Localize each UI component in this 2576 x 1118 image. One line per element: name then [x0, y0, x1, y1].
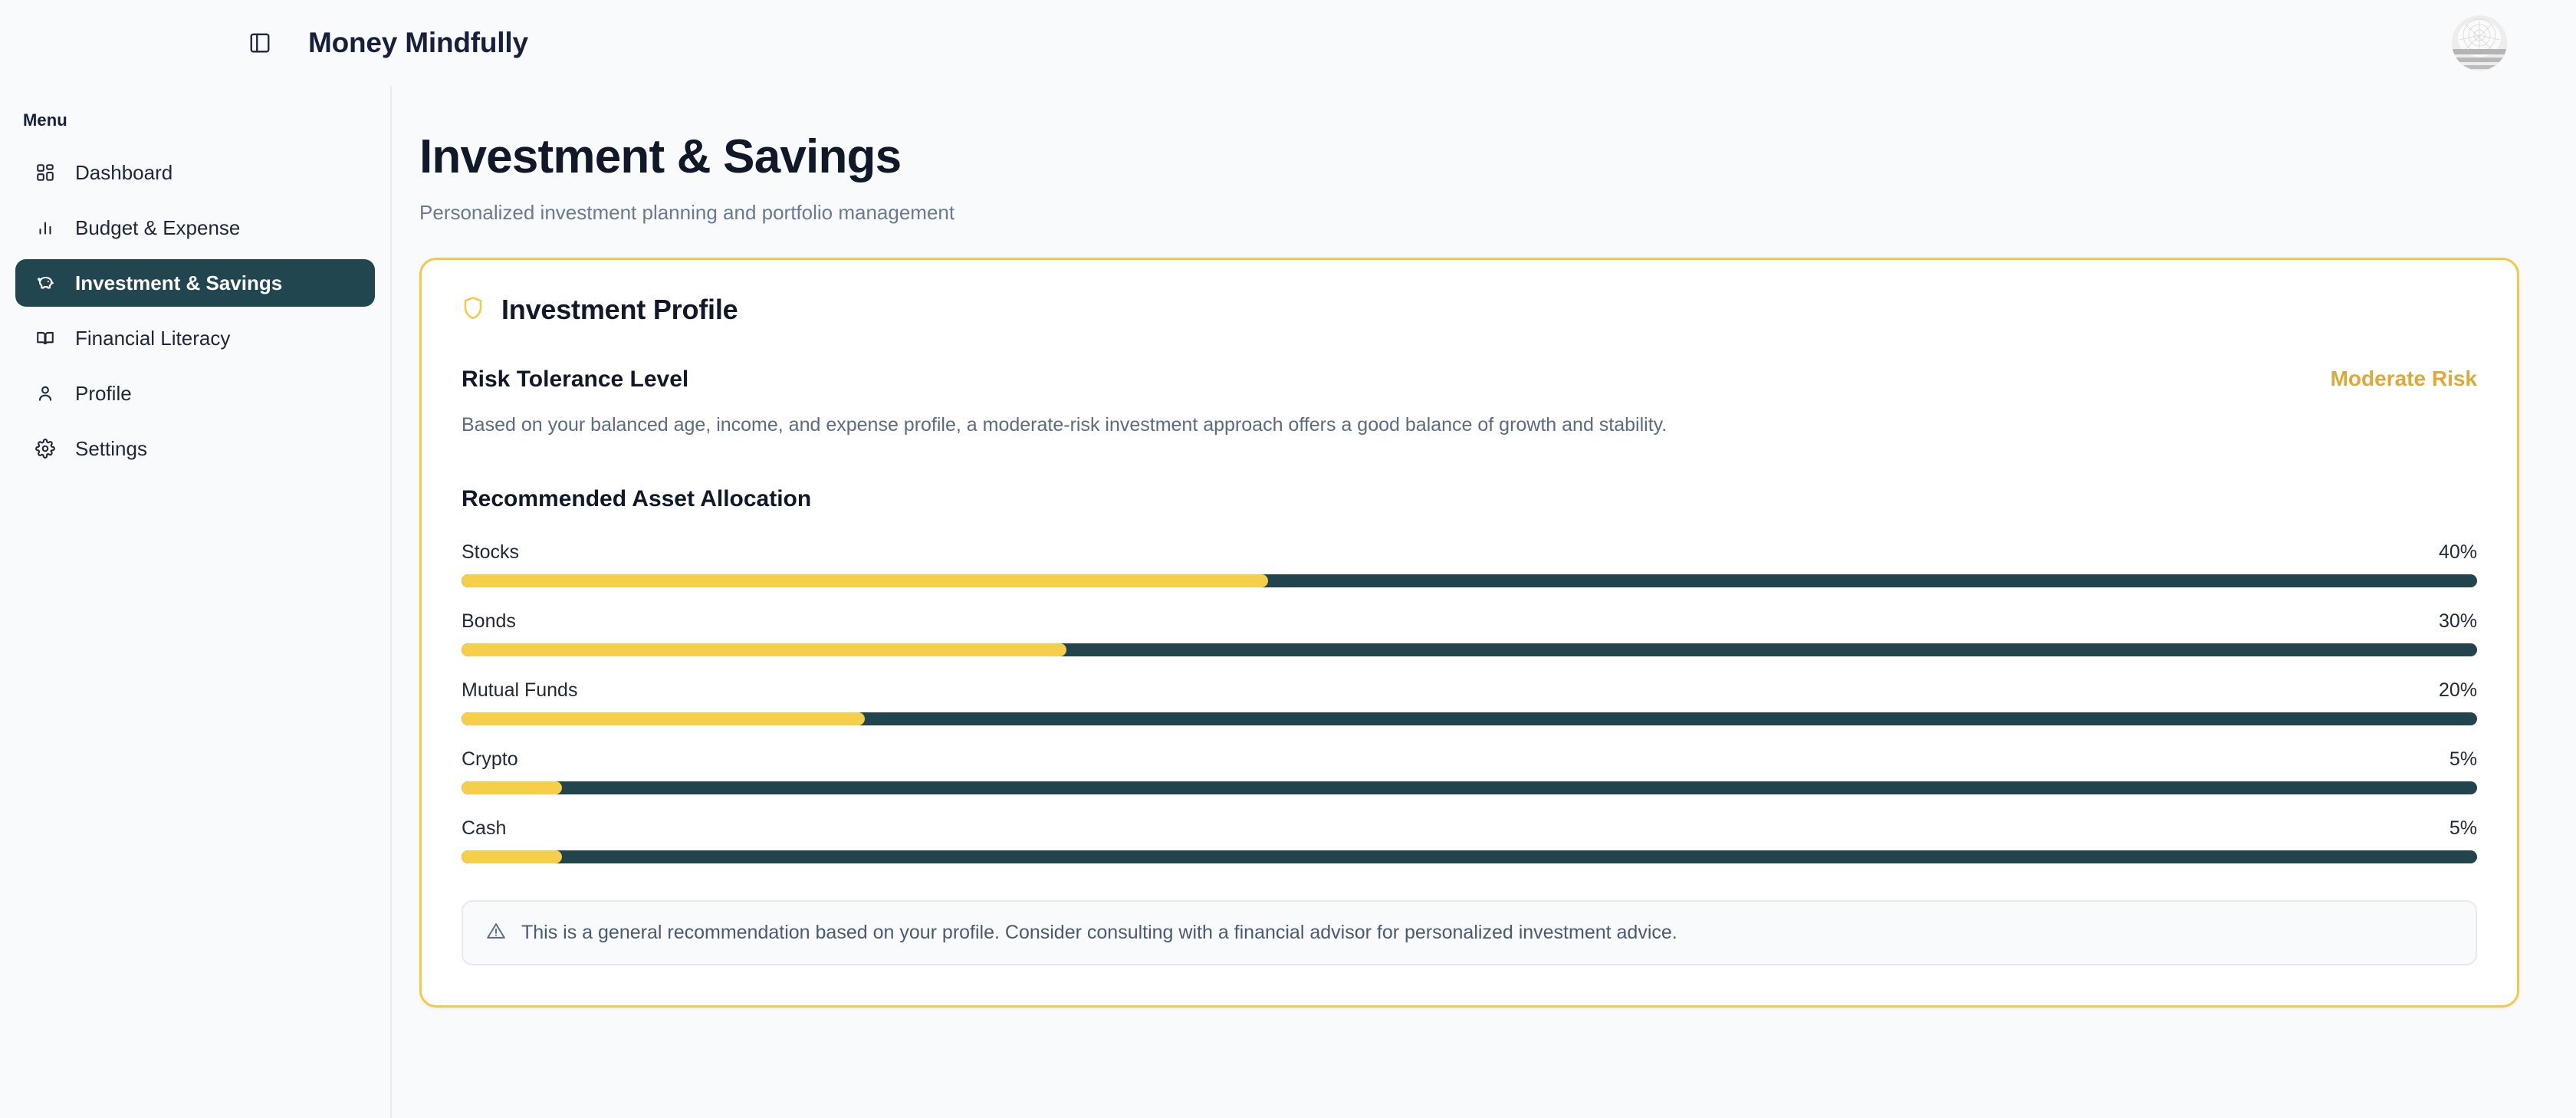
sidebar-item-label: Budget & Expense [75, 216, 240, 240]
sidebar-item-label: Profile [75, 382, 132, 406]
app-root: Money Mindfully [0, 0, 2576, 1118]
bar-chart-icon [31, 213, 60, 242]
sidebar-item-financial-literacy[interactable]: Financial Literacy [15, 314, 375, 362]
investment-profile-card: Investment Profile Risk Tolerance Level … [419, 258, 2519, 1008]
allocation-progress-track [462, 850, 2477, 863]
panel-toggle-glyph [248, 31, 271, 54]
sidebar-item-budget-expense[interactable]: Budget & Expense [15, 204, 375, 252]
allocation-label: Bonds [462, 610, 516, 633]
allocation-progress-fill [462, 850, 562, 863]
allocation-label: Stocks [462, 541, 519, 564]
avatar-image [2452, 15, 2507, 71]
risk-tolerance-description: Based on your balanced age, income, and … [462, 413, 2477, 439]
piggy-bank-icon [31, 268, 60, 298]
top-bar: Money Mindfully [0, 0, 2576, 86]
disclaimer-note: This is a general recommendation based o… [462, 900, 2477, 965]
card-title: Investment Profile [501, 294, 738, 326]
disclaimer-text: This is a general recommendation based o… [521, 922, 1677, 944]
sidebar-item-label: Investment & Savings [75, 271, 282, 295]
allocation-value: 20% [2439, 679, 2477, 702]
allocation-progress-fill [462, 712, 865, 725]
risk-tolerance-row: Risk Tolerance Level Moderate Risk [462, 367, 2477, 393]
panel-toggle-icon[interactable] [242, 25, 278, 61]
allocation-heading: Recommended Asset Allocation [462, 486, 2477, 512]
allocation-value: 5% [2449, 817, 2477, 840]
allocation-value: 30% [2439, 610, 2477, 633]
list-item: Crypto 5% [462, 748, 2477, 794]
warning-triangle-icon [486, 921, 506, 945]
page-title: Investment & Savings [419, 132, 2519, 182]
sidebar-item-label: Financial Literacy [75, 327, 230, 350]
sidebar-item-investment-savings[interactable]: Investment & Savings [15, 259, 375, 307]
sidebar-item-label: Dashboard [75, 161, 172, 185]
main-content: Investment & Savings Personalized invest… [393, 86, 2576, 1118]
allocation-progress-track [462, 712, 2477, 725]
grid-icon [31, 158, 60, 187]
allocation-progress-fill [462, 781, 562, 794]
sidebar-item-profile[interactable]: Profile [15, 370, 375, 417]
sidebar-item-settings[interactable]: Settings [15, 425, 375, 472]
allocation-label: Cash [462, 817, 506, 840]
avatar[interactable] [2452, 15, 2507, 71]
gear-icon [31, 434, 60, 463]
allocation-progress-track [462, 643, 2477, 656]
list-item: Stocks 40% [462, 541, 2477, 587]
allocation-progress-track [462, 574, 2477, 587]
risk-tolerance-heading: Risk Tolerance Level [462, 367, 688, 393]
user-icon [31, 379, 60, 408]
shield-icon [462, 295, 485, 325]
list-item: Cash 5% [462, 817, 2477, 863]
sidebar-section-label: Menu [0, 110, 390, 130]
book-open-icon [31, 324, 60, 353]
allocation-progress-track [462, 781, 2477, 794]
list-item: Bonds 30% [462, 610, 2477, 656]
allocation-value: 40% [2439, 541, 2477, 564]
page-subtitle: Personalized investment planning and por… [419, 201, 2519, 225]
allocation-value: 5% [2449, 748, 2477, 771]
sidebar-item-dashboard[interactable]: Dashboard [15, 149, 375, 196]
brand-title: Money Mindfully [308, 27, 528, 59]
allocation-label: Crypto [462, 748, 518, 771]
allocation-progress-fill [462, 643, 1066, 656]
sidebar: Menu Dashboard Budget & Expens [0, 86, 392, 1118]
status-badge: Moderate Risk [2331, 367, 2477, 391]
sidebar-item-label: Settings [75, 437, 147, 461]
card-header: Investment Profile [462, 294, 2477, 326]
allocation-list: Stocks 40% Bonds 30% [462, 541, 2477, 863]
allocation-label: Mutual Funds [462, 679, 577, 702]
list-item: Mutual Funds 20% [462, 679, 2477, 725]
allocation-progress-fill [462, 574, 1268, 587]
